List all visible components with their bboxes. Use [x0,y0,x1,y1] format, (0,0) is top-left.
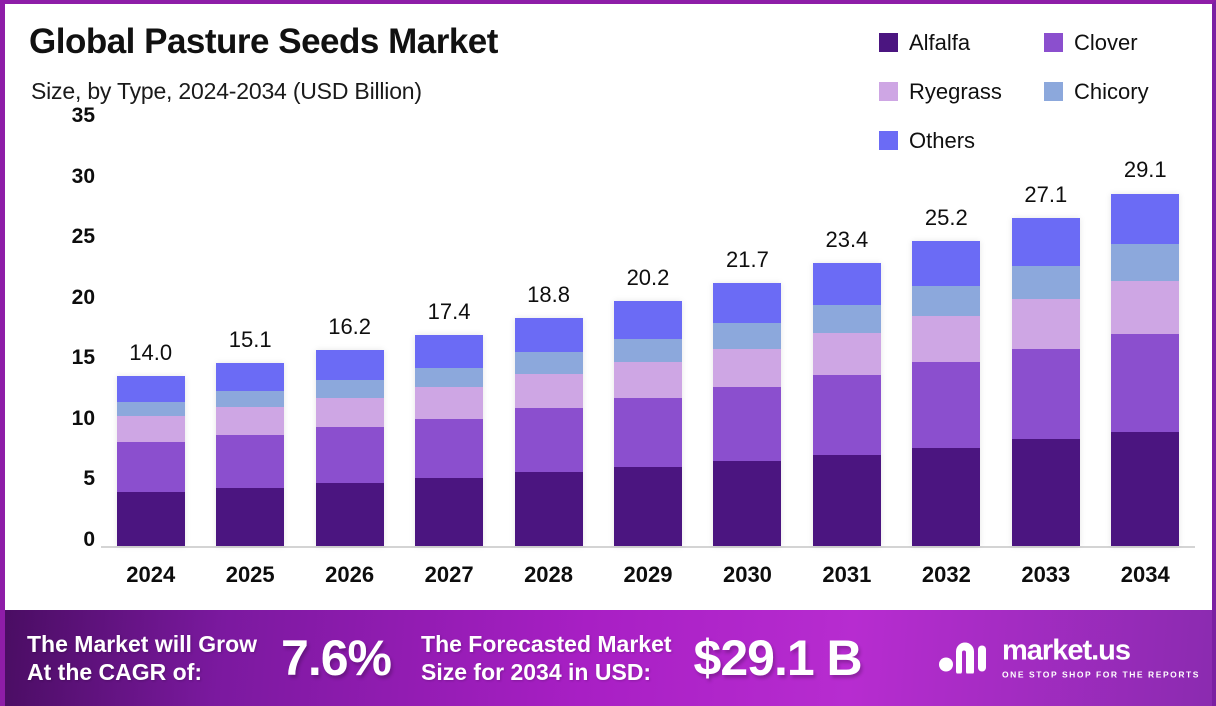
bar-segment-clover[interactable] [415,419,483,478]
forecast-label: The Forecasted Market Size for 2034 in U… [421,630,672,686]
bar-segment-alfalfa[interactable] [614,467,682,546]
bar-column[interactable]: 17.4 [399,126,498,546]
bar-segment-ryegrass[interactable] [1012,299,1080,349]
bar-segment-others[interactable] [614,301,682,339]
bar-segment-ryegrass[interactable] [117,416,185,441]
x-axis-label: 2028 [499,562,598,588]
bar-segment-chicory[interactable] [813,305,881,333]
bar-segment-chicory[interactable] [216,391,284,407]
bar-column[interactable]: 14.0 [101,126,200,546]
bar-segment-chicory[interactable] [515,352,583,374]
stacked-bar[interactable] [216,363,284,546]
bar-value-label: 17.4 [428,299,471,325]
stacked-bar[interactable] [813,263,881,546]
bar-value-label: 21.7 [726,247,769,273]
y-axis-tick: 20 [33,286,95,310]
bar-segment-alfalfa[interactable] [117,492,185,547]
bar-value-label: 15.1 [229,327,272,353]
bar-segment-clover[interactable] [1111,334,1179,432]
y-axis-tick: 0 [33,528,95,552]
x-axis-label: 2034 [1096,562,1195,588]
bar-segment-alfalfa[interactable] [713,461,781,546]
x-axis-labels: 2024202520262027202820292030203120322033… [101,562,1195,588]
legend-item-chicory[interactable]: Chicory [1044,67,1209,116]
cagr-label-line2: At the CAGR of: [27,658,257,686]
bar-segment-ryegrass[interactable] [515,374,583,408]
bar-segment-others[interactable] [813,263,881,305]
stacked-bar[interactable] [515,318,583,546]
bar-segment-alfalfa[interactable] [912,448,980,546]
legend-item-alfalfa[interactable]: Alfalfa [879,18,1044,67]
forecast-value: $29.1 B [694,629,862,687]
bar-segment-ryegrass[interactable] [415,387,483,418]
footer-banner: The Market will Grow At the CAGR of: 7.6… [5,610,1212,706]
y-axis-tick: 10 [33,407,95,431]
bar-column[interactable]: 21.7 [698,126,797,546]
legend-item-label: Ryegrass [909,79,1002,105]
bar-segment-alfalfa[interactable] [415,478,483,546]
bar-segment-clover[interactable] [515,408,583,472]
market-us-logo[interactable]: market.us ONE STOP SHOP FOR THE REPORTS [938,637,1200,680]
stacked-bar[interactable] [614,301,682,546]
bar-segment-others[interactable] [515,318,583,352]
bar-segment-others[interactable] [713,283,781,323]
y-axis-tick: 35 [33,104,95,128]
bar-group: 14.015.116.217.418.820.221.723.425.227.1… [101,126,1195,546]
cagr-label-line1: The Market will Grow [27,630,257,658]
bar-column[interactable]: 25.2 [897,126,996,546]
cagr-value: 7.6% [281,629,391,687]
y-axis-tick: 15 [33,346,95,370]
bar-segment-clover[interactable] [1012,349,1080,440]
x-axis-label: 2029 [598,562,697,588]
legend-swatch-icon [1044,82,1063,101]
market-us-mark-icon [938,638,992,679]
bar-segment-others[interactable] [1012,218,1080,266]
legend-item-clover[interactable]: Clover [1044,18,1209,67]
bar-column[interactable]: 15.1 [200,126,299,546]
plot-area: 14.015.116.217.418.820.221.723.425.227.1… [101,124,1201,548]
x-axis-label: 2024 [101,562,200,588]
bar-value-label: 23.4 [825,227,868,253]
stacked-bar[interactable] [117,376,185,546]
x-axis-line [101,546,1195,548]
page-title: Global Pasture Seeds Market [29,22,498,62]
stacked-bar[interactable] [316,350,384,546]
bar-segment-ryegrass[interactable] [912,316,980,362]
y-axis-tick: 30 [33,165,95,189]
bar-segment-others[interactable] [216,363,284,391]
legend-item-label: Alfalfa [909,30,970,56]
x-axis-label: 2030 [698,562,797,588]
page-subtitle: Size, by Type, 2024-2034 (USD Billion) [31,78,422,105]
bar-segment-alfalfa[interactable] [316,483,384,546]
bar-column[interactable]: 20.2 [598,126,697,546]
bar-segment-ryegrass[interactable] [216,407,284,435]
legend-item-ryegrass[interactable]: Ryegrass [879,67,1044,116]
bar-column[interactable]: 23.4 [797,126,896,546]
bar-segment-ryegrass[interactable] [316,398,384,427]
bar-value-label: 16.2 [328,314,371,340]
bar-segment-others[interactable] [415,335,483,368]
bar-segment-ryegrass[interactable] [1111,281,1179,334]
legend-swatch-icon [879,82,898,101]
y-axis-labels: 05101520253035 [33,116,95,540]
x-axis-label: 2027 [399,562,498,588]
stacked-bar[interactable] [912,241,980,546]
x-axis-label: 2033 [996,562,1095,588]
bar-segment-clover[interactable] [912,362,980,448]
bar-value-label: 27.1 [1024,182,1067,208]
bar-segment-others[interactable] [912,241,980,286]
cagr-label: The Market will Grow At the CAGR of: [27,630,257,686]
bar-segment-chicory[interactable] [912,286,980,316]
bar-segment-alfalfa[interactable] [216,488,284,546]
y-axis-tick: 25 [33,225,95,249]
bar-segment-chicory[interactable] [614,339,682,362]
logo-name: market.us [1002,637,1130,666]
bar-value-label: 18.8 [527,282,570,308]
x-axis-label: 2031 [797,562,896,588]
stacked-bar[interactable] [1111,194,1179,546]
bar-segment-ryegrass[interactable] [713,349,781,388]
bar-segment-alfalfa[interactable] [515,472,583,546]
bar-column[interactable]: 18.8 [499,126,598,546]
forecast-label-line2: Size for 2034 in USD: [421,658,672,686]
bar-segment-clover[interactable] [117,442,185,492]
bar-column[interactable]: 16.2 [300,126,399,546]
bar-value-label: 29.1 [1124,157,1167,183]
x-axis-label: 2026 [300,562,399,588]
bar-segment-chicory[interactable] [1111,244,1179,280]
bar-segment-alfalfa[interactable] [813,455,881,546]
stacked-bar[interactable] [1012,218,1080,546]
bar-segment-others[interactable] [1111,194,1179,245]
bar-segment-clover[interactable] [713,387,781,461]
bar-segment-chicory[interactable] [117,402,185,417]
stacked-bar[interactable] [415,335,483,546]
y-axis-tick: 5 [33,467,95,491]
bar-segment-alfalfa[interactable] [1111,432,1179,546]
bar-column[interactable]: 27.1 [996,126,1095,546]
bar-segment-clover[interactable] [316,427,384,483]
infographic-root: Global Pasture Seeds Market Size, by Typ… [0,0,1216,706]
bar-segment-chicory[interactable] [316,380,384,398]
legend-swatch-icon [879,33,898,52]
bar-segment-clover[interactable] [813,375,881,455]
x-axis-label: 2032 [897,562,996,588]
legend-item-label: Clover [1074,30,1138,56]
bar-value-label: 20.2 [627,265,670,291]
bar-segment-others[interactable] [316,350,384,380]
bar-segment-chicory[interactable] [713,323,781,348]
bar-value-label: 25.2 [925,205,968,231]
bar-segment-ryegrass[interactable] [813,333,881,375]
bar-segment-chicory[interactable] [1012,266,1080,299]
legend-item-label: Chicory [1074,79,1149,105]
bar-segment-alfalfa[interactable] [1012,439,1080,546]
bar-segment-clover[interactable] [216,435,284,488]
forecast-label-line1: The Forecasted Market [421,630,672,658]
legend-swatch-icon [1044,33,1063,52]
bar-segment-others[interactable] [117,376,185,401]
bar-segment-chicory[interactable] [415,368,483,387]
stacked-bar[interactable] [713,283,781,546]
bar-segment-ryegrass[interactable] [614,362,682,398]
logo-tagline: ONE STOP SHOP FOR THE REPORTS [1002,670,1200,680]
bar-segment-clover[interactable] [614,398,682,467]
bar-value-label: 14.0 [129,340,172,366]
bar-column[interactable]: 29.1 [1096,126,1195,546]
logo-text-block: market.us ONE STOP SHOP FOR THE REPORTS [1002,637,1200,680]
x-axis-label: 2025 [200,562,299,588]
